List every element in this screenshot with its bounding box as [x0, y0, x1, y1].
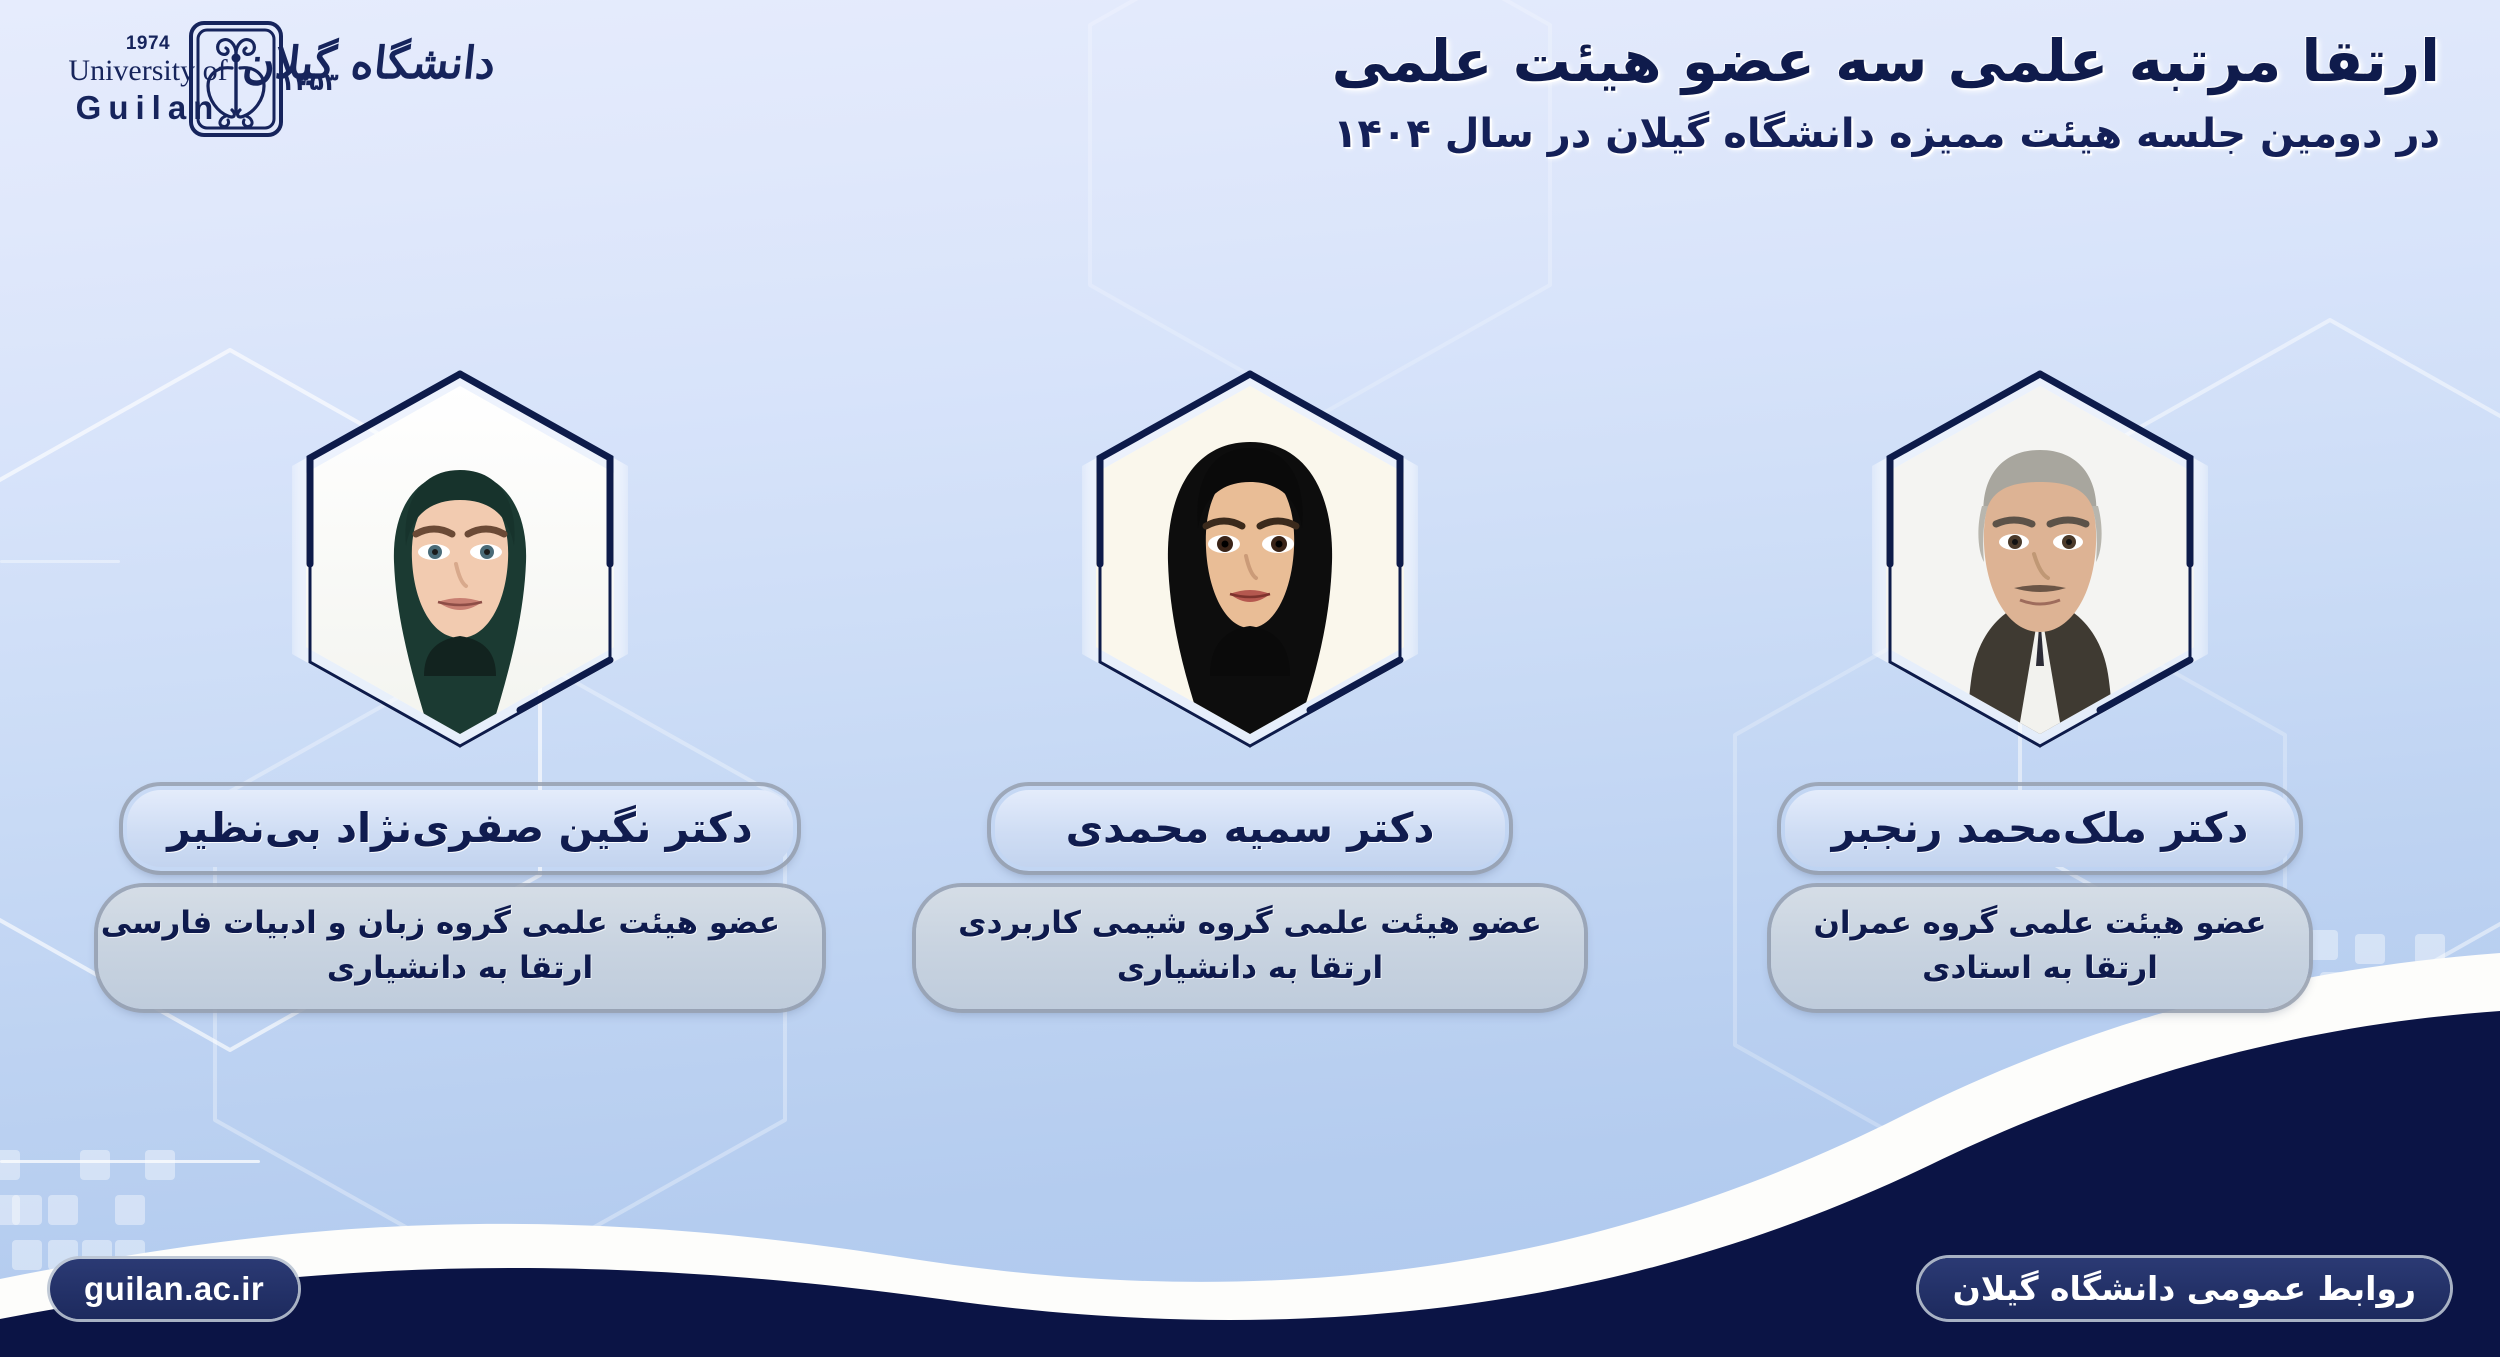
faculty-department: عضو هیئت علمی گروه عمران	[1813, 901, 2266, 946]
photo-frame	[1070, 360, 1430, 760]
header-text-block: ارتقا مرتبه علمی سه عضو هیئت علمی در دوم…	[1332, 28, 2440, 157]
faculty-department: عضو هیئت علمی گروه شیمی کاربردی	[958, 901, 1542, 946]
faculty-card: دکتر ملک‌محمد رنجبر عضو هیئت علمی گروه ع…	[1730, 360, 2350, 1009]
page-title: ارتقا مرتبه علمی سه عضو هیئت علمی	[1332, 28, 2440, 95]
page-subtitle: در دومین جلسه هیئت ممیزه دانشگاه گیلان د…	[1332, 111, 2440, 157]
logo-persian-text: ۱۳۵۳ دانشگاه گیلان	[270, 22, 495, 132]
faculty-role-badge: عضو هیئت علمی گروه عمران ارتقا به استادی	[1771, 887, 2308, 1009]
faculty-name-badge: دکتر سمیه محمدی	[991, 786, 1509, 871]
faculty-card: دکتر نگین صفری‌نژاد بی‌نظیر عضو هیئت علم…	[150, 360, 770, 1009]
public-relations-label: روابط عمومی دانشگاه گیلان	[1953, 1269, 2416, 1308]
logo-persian-name: دانشگاه گیلان	[240, 38, 498, 89]
faculty-name-badge: دکتر نگین صفری‌نژاد بی‌نظیر	[123, 786, 796, 871]
faculty-name: دکتر سمیه محمدی	[1035, 803, 1465, 854]
faculty-department: عضو هیئت علمی گروه زبان و ادبیات فارسی	[140, 901, 780, 946]
accent-line-left	[0, 1160, 260, 1163]
faculty-name: دکتر ملک‌محمد رنجبر	[1825, 803, 2255, 854]
public-relations-badge: روابط عمومی دانشگاه گیلان	[1919, 1258, 2450, 1319]
faculty-name-badge: دکتر ملک‌محمد رنجبر	[1781, 786, 2299, 871]
poster-canvas: 1974 University of Guilan ۱۳۵۳ دانشگاه گ…	[0, 0, 2500, 1357]
website-url: guilan.ac.ir	[84, 1270, 264, 1307]
photo-frame	[1860, 360, 2220, 760]
university-logo: 1974 University of Guilan ۱۳۵۳ دانشگاه گ…	[20, 8, 490, 138]
photo-frame	[280, 360, 640, 760]
hexagon-border-accent	[280, 360, 640, 760]
hexagon-border-accent	[1070, 360, 1430, 760]
faculty-promotion: ارتقا به دانشیاری	[140, 946, 780, 991]
hexagon-border-accent	[1860, 360, 2220, 760]
faculty-promotion: ارتقا به دانشیاری	[958, 946, 1542, 991]
website-badge[interactable]: guilan.ac.ir	[50, 1259, 298, 1319]
dot-grid-bottom-left	[0, 1150, 390, 1357]
faculty-role-badge: عضو هیئت علمی گروه شیمی کاربردی ارتقا به…	[916, 887, 1584, 1009]
faculty-cards-row: دکتر نگین صفری‌نژاد بی‌نظیر عضو هیئت علم…	[0, 360, 2500, 1060]
faculty-promotion: ارتقا به استادی	[1813, 946, 2266, 991]
faculty-role-badge: عضو هیئت علمی گروه زبان و ادبیات فارسی ا…	[98, 887, 822, 1009]
faculty-name: دکتر نگین صفری‌نژاد بی‌نظیر	[167, 803, 752, 854]
faculty-card: دکتر سمیه محمدی عضو هیئت علمی گروه شیمی …	[940, 360, 1560, 1009]
